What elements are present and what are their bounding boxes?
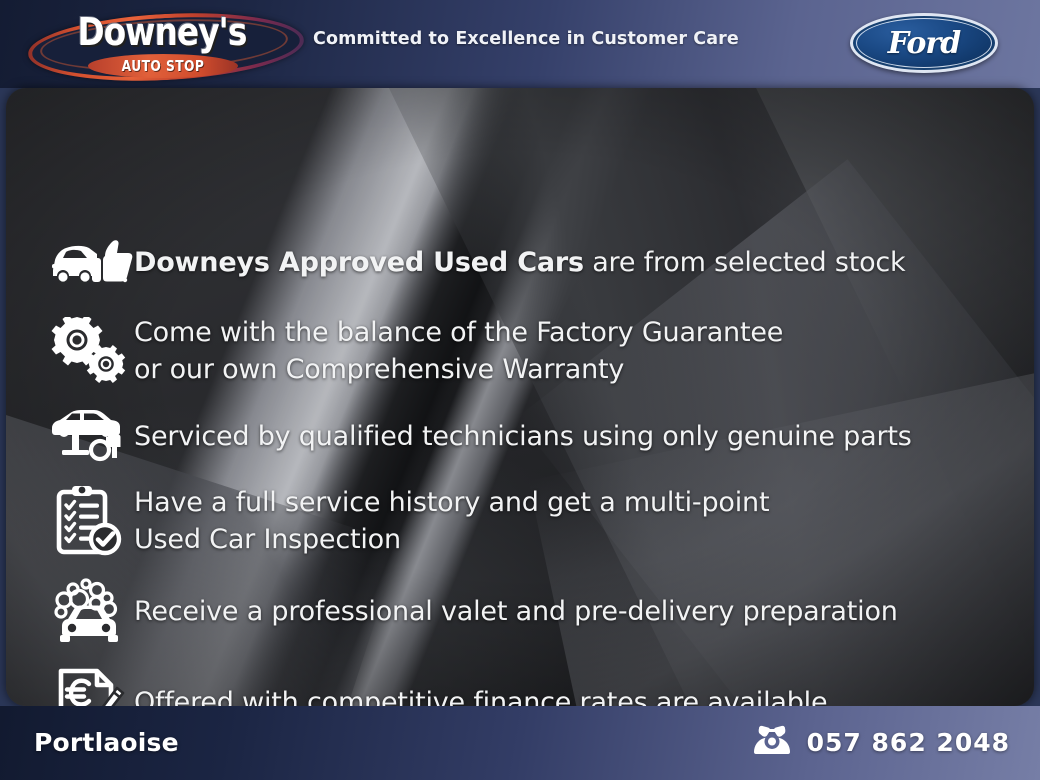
- header-tagline: Committed to Excellence in Customer Care: [313, 29, 739, 49]
- benefit-text: Serviced by qualified technicians using …: [134, 418, 912, 455]
- branch-name: Portlaoise: [34, 728, 179, 757]
- benefit-text: Have a full service history and get a mu…: [134, 484, 769, 558]
- benefit-text: Receive a professional valet and pre-del…: [134, 593, 898, 630]
- gears-icon: [46, 317, 134, 385]
- euro-document-pen-icon: [46, 666, 134, 706]
- benefit-text-line1: Have a full service history and get a mu…: [134, 484, 769, 521]
- benefit-text-line1: Come with the balance of the Factory Gua…: [134, 314, 783, 351]
- car-wash-bubbles-icon: [46, 578, 134, 644]
- benefits-list: Downeys Approved Used Cars are from sele…: [6, 88, 1034, 706]
- benefit-text-line2: or our own Comprehensive Warranty: [134, 351, 783, 388]
- benefit-text: Downeys Approved Used Cars are from sele…: [134, 244, 905, 281]
- ford-logo-text: Ford: [850, 13, 998, 73]
- clipboard-checklist-icon: [46, 484, 134, 558]
- downeys-logo: Downey's AUTO STOP: [28, 4, 296, 84]
- benefit-item: Have a full service history and get a mu…: [46, 484, 769, 558]
- header-bar: Downey's AUTO STOP Committed to Excellen…: [0, 0, 1040, 88]
- ford-logo: Ford: [850, 13, 998, 73]
- downeys-logo-subplate: AUTO STOP: [88, 54, 238, 78]
- downeys-logo-subtext: AUTO STOP: [102, 54, 225, 78]
- phone-block[interactable]: 057 862 2048: [751, 725, 1010, 760]
- benefit-item: Downeys Approved Used Cars are from sele…: [46, 236, 905, 288]
- benefit-text-bold: Downeys Approved Used Cars: [134, 247, 584, 278]
- telephone-icon: [751, 725, 793, 760]
- car-thumbs-up-icon: [46, 236, 134, 288]
- benefit-item: Receive a professional valet and pre-del…: [46, 578, 898, 644]
- benefit-item: Come with the balance of the Factory Gua…: [46, 314, 783, 388]
- benefit-text-line2: Used Car Inspection: [134, 521, 769, 558]
- footer-bar: Portlaoise 057 862 2048: [0, 706, 1040, 780]
- benefit-text: Come with the balance of the Factory Gua…: [134, 314, 783, 388]
- benefits-panel: Downeys Approved Used Cars are from sele…: [6, 88, 1034, 706]
- benefit-text: Offered with competitive finance rates a…: [134, 684, 827, 707]
- phone-number[interactable]: 057 862 2048: [807, 728, 1010, 757]
- benefit-item: Serviced by qualified technicians using …: [46, 406, 912, 466]
- promo-banner: Downey's AUTO STOP Committed to Excellen…: [0, 0, 1040, 780]
- downeys-logo-text: Downey's: [47, 10, 277, 54]
- benefit-text-rest: are from selected stock: [584, 247, 906, 278]
- car-on-lift-mechanic-icon: [46, 406, 134, 466]
- benefit-item: Offered with competitive finance rates a…: [46, 666, 827, 706]
